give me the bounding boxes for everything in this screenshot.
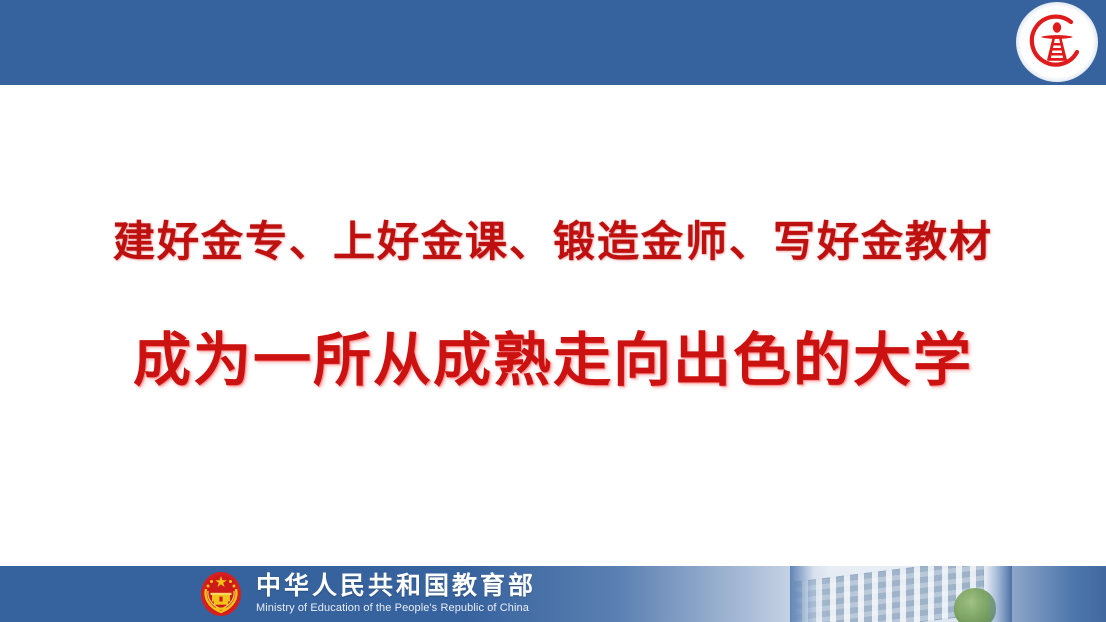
slide-title-line-1: 建好金专、上好金课、锻造金师、写好金教材: [0, 208, 1106, 269]
ministry-text-block: 中华人民共和国教育部 Ministry of Education of the …: [256, 573, 536, 614]
national-emblem-of-china-icon: [200, 571, 242, 617]
ministry-name-english: Ministry of Education of the People's Re…: [256, 602, 536, 615]
ministry-name-chinese: 中华人民共和国教育部: [256, 573, 536, 599]
footer-band: 中华人民共和国教育部 Ministry of Education of the …: [0, 566, 1106, 622]
slide-content: 建好金专、上好金课、锻造金师、写好金教材 成为一所从成熟走向出色的大学: [0, 85, 1106, 566]
photo-left-fade: [790, 566, 830, 622]
university-tower-emblem-icon: [1016, 2, 1098, 82]
photo-right-fade: [986, 566, 1012, 622]
slide-title-line-2: 成为一所从成熟走向出色的大学: [0, 313, 1106, 397]
ministry-building-photo: [790, 566, 1012, 622]
ministry-lockup: 中华人民共和国教育部 Ministry of Education of the …: [200, 568, 536, 620]
presentation-slide: 建好金专、上好金课、锻造金师、写好金教材 成为一所从成熟走向出色的大学: [0, 0, 1106, 622]
header-band: [0, 0, 1106, 85]
